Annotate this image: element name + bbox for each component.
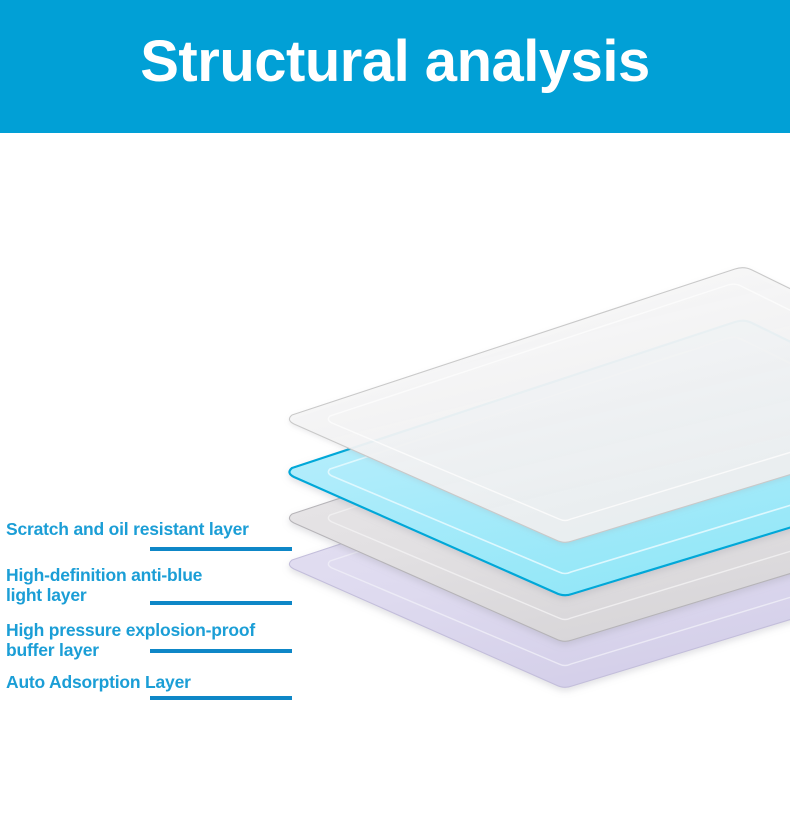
label-high-pressure-explosion-proof-buffer-layer: High pressure explosion-proof buffer lay… xyxy=(6,620,255,660)
layer-stack-diagram xyxy=(0,133,790,833)
header-banner: Structural analysis xyxy=(0,0,790,133)
label-auto-adsorption-layer: Auto Adsorption Layer xyxy=(6,672,191,692)
leader-line-auto-adsorption xyxy=(150,696,292,700)
label-scratch-oil-resistant-layer: Scratch and oil resistant layer xyxy=(6,519,249,539)
label-high-definition-anti-blue-light-layer: High-definition anti-blue light layer xyxy=(6,565,202,605)
page-title: Structural analysis xyxy=(0,26,790,98)
leader-line-scratch-oil-resistant xyxy=(150,547,292,551)
layer-stack-illustration: Scratch and oil resistant layer High-def… xyxy=(0,133,790,833)
